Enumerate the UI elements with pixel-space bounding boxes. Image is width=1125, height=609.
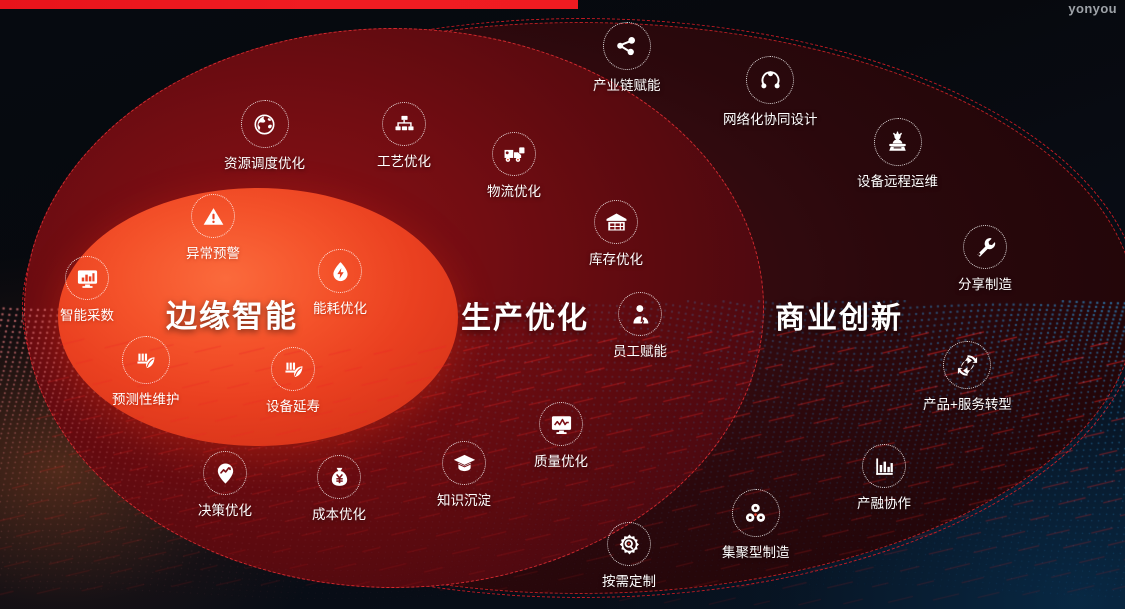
employee-icon — [618, 292, 662, 336]
remote-device-icon — [874, 118, 922, 166]
network-share-icon — [746, 56, 794, 104]
leaf-gear-icon — [122, 336, 170, 384]
node-label: 产品+服务转型 — [923, 393, 1012, 413]
node-search-gear[interactable]: 按需定制 — [602, 522, 656, 590]
node-label: 设备远程运维 — [857, 170, 938, 190]
node-label: 设备延寿 — [266, 395, 320, 415]
cluster-gears-icon — [732, 489, 780, 537]
node-remote-device[interactable]: 设备远程运维 — [857, 118, 938, 190]
node-label: 产业链赋能 — [593, 74, 661, 94]
monitor-chart-icon — [65, 256, 109, 300]
node-label: 网络化协同设计 — [723, 108, 818, 128]
warehouse-icon — [594, 200, 638, 244]
truck-icon — [492, 132, 536, 176]
node-employee[interactable]: 员工赋能 — [613, 292, 667, 360]
node-wrench[interactable]: 分享制造 — [958, 225, 1012, 293]
node-label: 按需定制 — [602, 570, 656, 590]
search-gear-icon — [607, 522, 651, 566]
node-energy-drop[interactable]: 能耗优化 — [313, 249, 367, 317]
node-molecule[interactable]: 产业链赋能 — [593, 22, 661, 94]
node-truck[interactable]: 物流优化 — [487, 132, 541, 200]
node-label: 预测性维护 — [112, 388, 180, 408]
node-bar-chart[interactable]: 产融协作 — [857, 444, 911, 512]
quality-monitor-icon — [539, 402, 583, 446]
node-warehouse[interactable]: 库存优化 — [589, 200, 643, 268]
node-globe[interactable]: 资源调度优化 — [224, 100, 305, 172]
zone-title-business: 商业创新 — [775, 293, 903, 337]
node-label: 能耗优化 — [313, 297, 367, 317]
node-label: 质量优化 — [534, 450, 588, 470]
node-label: 员工赋能 — [613, 340, 667, 360]
node-leaf-gear[interactable]: 预测性维护 — [112, 336, 180, 408]
node-label: 成本优化 — [312, 503, 366, 523]
node-label: 集聚型制造 — [722, 541, 790, 561]
warning-icon — [191, 194, 235, 238]
infographic-stage: yonyou 边缘智能 生产优化 商业创新 智能采数异常预警能耗优化预测性维护设… — [0, 0, 1125, 609]
node-leaf-gear[interactable]: 设备延寿 — [266, 347, 320, 415]
brand-logo: yonyou — [1068, 1, 1117, 16]
node-label: 库存优化 — [589, 248, 643, 268]
node-label: 决策优化 — [198, 499, 252, 519]
node-hierarchy[interactable]: 工艺优化 — [377, 102, 431, 170]
wrench-icon — [963, 225, 1007, 269]
hierarchy-icon — [382, 102, 426, 146]
node-decision-pin[interactable]: 决策优化 — [198, 451, 252, 519]
energy-drop-icon — [318, 249, 362, 293]
node-monitor-chart[interactable]: 智能采数 — [60, 256, 114, 324]
zone-title-edge: 边缘智能 — [166, 291, 298, 336]
globe-icon — [241, 100, 289, 148]
node-label: 产融协作 — [857, 492, 911, 512]
node-quality-monitor[interactable]: 质量优化 — [534, 402, 588, 470]
node-cluster-gears[interactable]: 集聚型制造 — [722, 489, 790, 561]
graduation-cap-icon — [442, 441, 486, 485]
node-label: 知识沉淀 — [437, 489, 491, 509]
leaf-gear-icon — [271, 347, 315, 391]
node-graduation-cap[interactable]: 知识沉淀 — [437, 441, 491, 509]
node-network-share[interactable]: 网络化协同设计 — [723, 56, 818, 128]
node-label: 分享制造 — [958, 273, 1012, 293]
node-label: 工艺优化 — [377, 150, 431, 170]
top-accent-bar — [0, 0, 578, 9]
node-label: 智能采数 — [60, 304, 114, 324]
node-money-bag[interactable]: 成本优化 — [312, 455, 366, 523]
refresh-cycle-icon — [943, 341, 991, 389]
decision-pin-icon — [203, 451, 247, 495]
money-bag-icon — [317, 455, 361, 499]
node-label: 资源调度优化 — [224, 152, 305, 172]
zone-title-production: 生产优化 — [461, 293, 589, 337]
node-refresh-cycle[interactable]: 产品+服务转型 — [923, 341, 1012, 413]
node-label: 物流优化 — [487, 180, 541, 200]
node-warning[interactable]: 异常预警 — [186, 194, 240, 262]
molecule-icon — [603, 22, 651, 70]
node-label: 异常预警 — [186, 242, 240, 262]
bar-chart-icon — [862, 444, 906, 488]
